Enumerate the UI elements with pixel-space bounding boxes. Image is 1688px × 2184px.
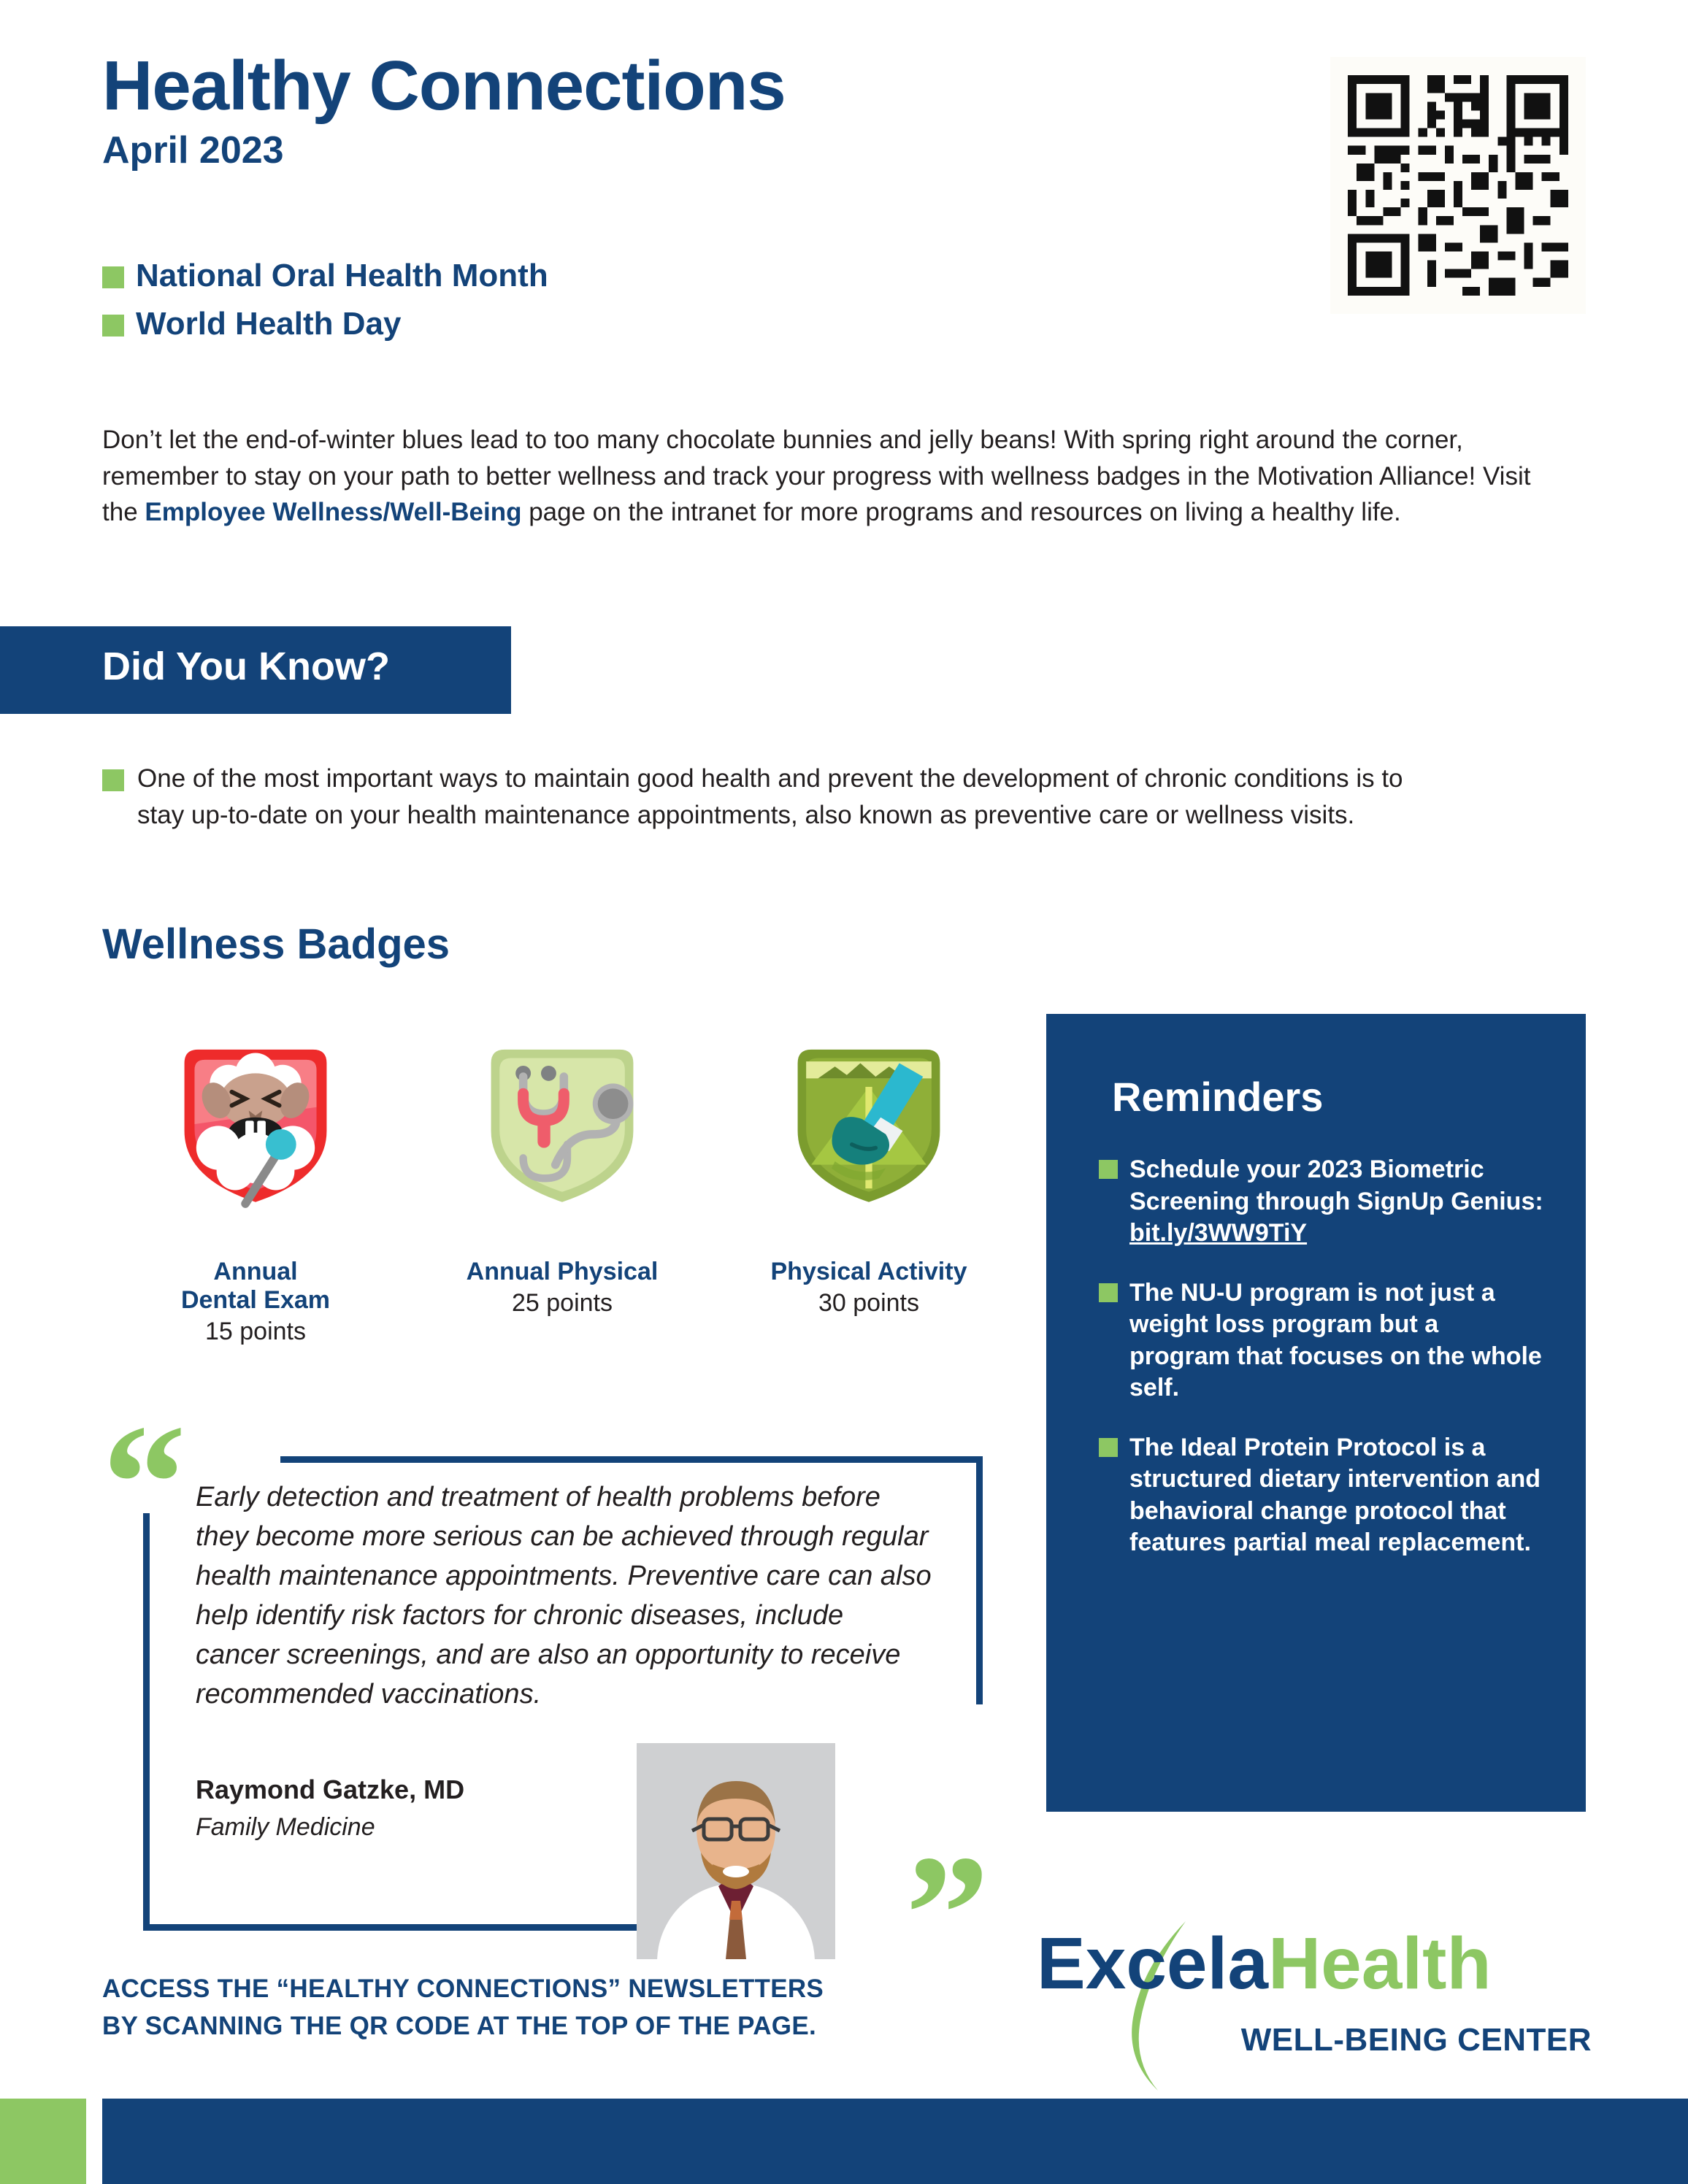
physician-headshot <box>637 1743 835 1959</box>
intro-link-emphasis: Employee Wellness/Well-Being <box>145 498 521 526</box>
running-shoe-badge-icon <box>784 1007 954 1241</box>
did-you-know-heading: Did You Know? <box>102 647 390 686</box>
excela-health-logo: ExcelaHealth WELL-BEING CENTER <box>1037 1927 1592 2088</box>
logo-word-excela: Excela <box>1037 1923 1268 2004</box>
green-square-bullet-icon <box>1099 1283 1118 1302</box>
wellness-badges-heading: Wellness Badges <box>102 923 450 966</box>
dental-sheep-badge-icon <box>171 1007 340 1241</box>
quote-close-mark-icon: ” <box>905 1847 989 1981</box>
highlight-label: National Oral Health Month <box>136 259 548 293</box>
reminder-item-ideal-protein: The Ideal Protein Protocol is a structur… <box>1099 1432 1544 1559</box>
qr-code[interactable] <box>1330 57 1586 314</box>
stethoscope-badge-icon <box>477 1007 647 1241</box>
did-you-know-banner: Did You Know? <box>0 626 511 714</box>
intro-text-part2: page on the intranet for more programs a… <box>521 498 1400 526</box>
badge-item-physical: Annual Physical 25 points <box>409 1007 716 1346</box>
quote-border-top <box>280 1456 983 1463</box>
wellness-badges-list: AnnualDental Exam 15 points Annual Physi… <box>102 1007 1022 1346</box>
green-square-bullet-icon <box>102 769 124 791</box>
footer-green-block <box>0 2099 86 2184</box>
highlight-label: World Health Day <box>136 307 401 341</box>
reminder-item-nuu: The NU-U program is not just a weight lo… <box>1099 1277 1544 1404</box>
physician-photo-illustration <box>637 1743 835 1959</box>
quote-text: Early detection and treatment of health … <box>196 1478 933 1715</box>
badge-name-text: AnnualDental Exam <box>181 1258 330 1314</box>
logo-subtitle: WELL-BEING CENTER <box>1241 2022 1592 2058</box>
qr-code-icon <box>1330 57 1586 314</box>
quote-author-specialty: Family Medicine <box>196 1812 375 1842</box>
reminder-text-pre: The <box>1129 1434 1181 1461</box>
reminder-text-pre: The <box>1129 1279 1181 1307</box>
green-square-bullet-icon <box>102 315 124 337</box>
call-to-action: ACCESS THE “HEALTHY CONNECTIONS” NEWSLET… <box>102 1971 1051 2045</box>
cta-line-1: ACCESS THE “HEALTHY CONNECTIONS” NEWSLET… <box>102 1971 1051 2008</box>
highlight-item-0: National Oral Health Month <box>102 259 548 293</box>
reminder-text-pre: Schedule your 2023 Biometric Screening t… <box>1129 1156 1543 1215</box>
badge-points: 15 points <box>102 1318 409 1346</box>
cta-line-2: BY SCANNING THE QR CODE AT THE TOP OF TH… <box>102 2008 1051 2045</box>
did-you-know-body: One of the most important ways to mainta… <box>102 761 1438 833</box>
did-you-know-bullet-text: One of the most important ways to mainta… <box>137 761 1438 833</box>
footer-blue-bar <box>102 2099 1688 2184</box>
reminder-text-strong: Ideal Protein Protocol <box>1181 1434 1437 1461</box>
green-square-bullet-icon <box>1099 1160 1118 1179</box>
intro-paragraph: Don’t let the end-of-winter blues lead t… <box>102 422 1541 531</box>
badge-points: 30 points <box>716 1289 1022 1318</box>
reminder-item-biometric: Schedule your 2023 Biometric Screening t… <box>1099 1154 1544 1250</box>
issue-date: April 2023 <box>102 131 786 169</box>
reminder-text: Schedule your 2023 Biometric Screening t… <box>1129 1154 1544 1250</box>
reminder-link[interactable]: bit.ly/3WW9TiY <box>1129 1219 1307 1247</box>
green-square-bullet-icon <box>102 266 124 288</box>
highlight-item-1: World Health Day <box>102 307 548 341</box>
newsletter-page: Healthy Connections April 2023 National … <box>0 0 1688 2184</box>
reminder-text: The Ideal Protein Protocol is a structur… <box>1129 1432 1544 1559</box>
quote-author: Raymond Gatzke, MD <box>196 1774 464 1805</box>
badge-name: Physical Activity <box>716 1258 1022 1286</box>
reminders-heading: Reminders <box>1112 1077 1323 1118</box>
quote-border-right <box>976 1456 983 1704</box>
badge-item-activity: Physical Activity 30 points <box>716 1007 1022 1346</box>
badge-name: AnnualDental Exam <box>102 1258 409 1315</box>
reminder-text: The NU-U program is not just a weight lo… <box>1129 1277 1544 1404</box>
page-title: Healthy Connections <box>102 51 786 121</box>
green-square-bullet-icon <box>1099 1438 1118 1457</box>
reminders-panel: Reminders Schedule your 2023 Biometric S… <box>1046 1014 1586 1812</box>
badge-item-dental: AnnualDental Exam 15 points <box>102 1007 409 1346</box>
badge-name: Annual Physical <box>409 1258 716 1286</box>
highlights-list: National Oral Health Month World Health … <box>102 259 548 355</box>
logo-word-health: Health <box>1268 1923 1492 2004</box>
reminder-text-strong: NU-U program <box>1181 1279 1350 1307</box>
badge-points: 25 points <box>409 1289 716 1318</box>
reminders-list: Schedule your 2023 Biometric Screening t… <box>1099 1154 1544 1587</box>
logo-wordmark: ExcelaHealth <box>1037 1927 1492 2000</box>
quote-open-mark-icon: “ <box>102 1416 186 1550</box>
masthead: Healthy Connections April 2023 <box>102 51 786 169</box>
